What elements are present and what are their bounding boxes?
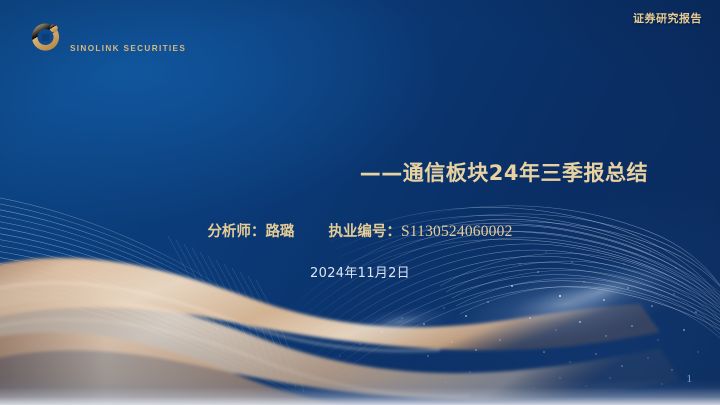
analyst-name: 路璐 [265, 224, 294, 240]
sinolink-circle-mark [30, 22, 61, 53]
report-type-tag: 证券研究报告 [633, 10, 702, 26]
page-title: 板块稳健发展，关注AI带来的机遇 [0, 104, 720, 145]
analyst-label: 分析师： [207, 224, 265, 240]
page-number: 1 [687, 373, 693, 385]
cert-number: S1130524060002 [401, 223, 513, 240]
page-subtitle: ——通信板块24年三季报总结 [0, 157, 720, 187]
title-block: 板块稳健发展，关注AI带来的机遇 ——通信板块24年三季报总结 [0, 104, 720, 187]
logo-text-block: 国金证券 SINOLINK SECURITIES [70, 22, 186, 53]
byline: 分析师：路璐执业编号：S1130524060002 [0, 220, 720, 241]
company-logo[interactable]: 国金证券 SINOLINK SECURITIES [30, 22, 186, 53]
report-cover-slide: 国金证券 SINOLINK SECURITIES 证券研究报告 板块稳健发展，关… [0, 0, 720, 405]
logo-name-cn: 国金证券 [70, 22, 186, 42]
cert-label: 执业编号： [328, 224, 401, 240]
background-vignette [0, 0, 720, 405]
logo-name-en: SINOLINK SECURITIES [70, 45, 186, 53]
publish-date: 2024年11月2日 [0, 262, 720, 281]
